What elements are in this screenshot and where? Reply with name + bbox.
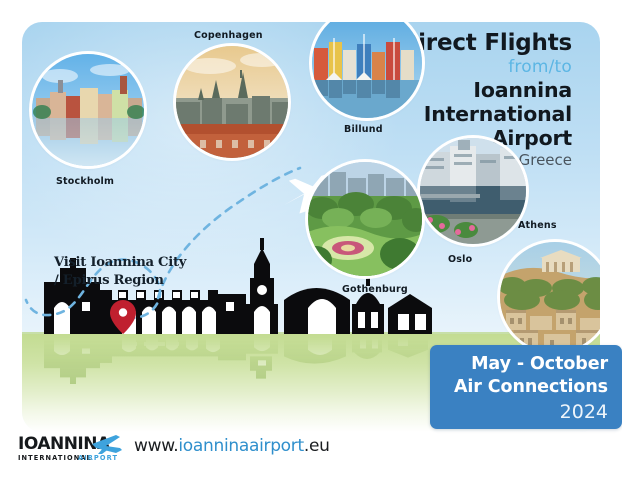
url-prefix: www. — [134, 436, 178, 456]
destination-copenhagen: Copenhagen — [172, 24, 302, 154]
athens-photo — [500, 242, 600, 352]
season-banner-year: 2024 — [440, 399, 608, 425]
destination-label-copenhagen: Copenhagen — [194, 30, 263, 41]
season-banner-period: May - October — [440, 353, 608, 376]
svg-text:AIRPORT: AIRPORT — [78, 454, 118, 462]
destination-billund: Billund — [312, 22, 432, 148]
visit-note-line1: Visit Ioannina City — [54, 254, 186, 272]
website-url[interactable]: www.ioanninaairport.eu — [134, 436, 330, 456]
poster-root: Direct Flights from/to Ioannina Internat… — [0, 0, 622, 480]
destination-label-billund: Billund — [344, 124, 383, 135]
destination-label-gothenburg: Gothenburg — [342, 284, 408, 295]
copenhagen-photo — [176, 46, 288, 158]
destination-label-athens: Athens — [518, 220, 557, 231]
footer: IOANNINA INTERNATIONAL AIRPORT www.ioann… — [0, 424, 622, 480]
map-pin-icon — [110, 300, 136, 334]
destination-athens: Athens — [490, 208, 600, 368]
billund-photo — [312, 22, 422, 118]
season-banner-subject: Air Connections — [440, 376, 608, 399]
destination-stockholm: Stockholm — [32, 54, 150, 204]
skyline-reflection-icon — [22, 334, 442, 426]
url-suffix: .eu — [304, 436, 330, 456]
destination-gothenburg: Gothenburg — [302, 162, 442, 322]
season-banner: May - October Air Connections 2024 — [430, 345, 622, 429]
url-main: ioanninaairport — [178, 436, 303, 456]
gothenburg-photo — [308, 162, 422, 276]
visit-note-line2: / Epirus Region — [54, 272, 186, 290]
destination-label-stockholm: Stockholm — [56, 176, 114, 187]
destination-label-oslo: Oslo — [448, 254, 472, 265]
visit-note: Visit Ioannina City / Epirus Region — [54, 254, 186, 290]
stockholm-photo — [32, 54, 144, 166]
airport-logo: IOANNINA INTERNATIONAL AIRPORT — [18, 430, 130, 468]
